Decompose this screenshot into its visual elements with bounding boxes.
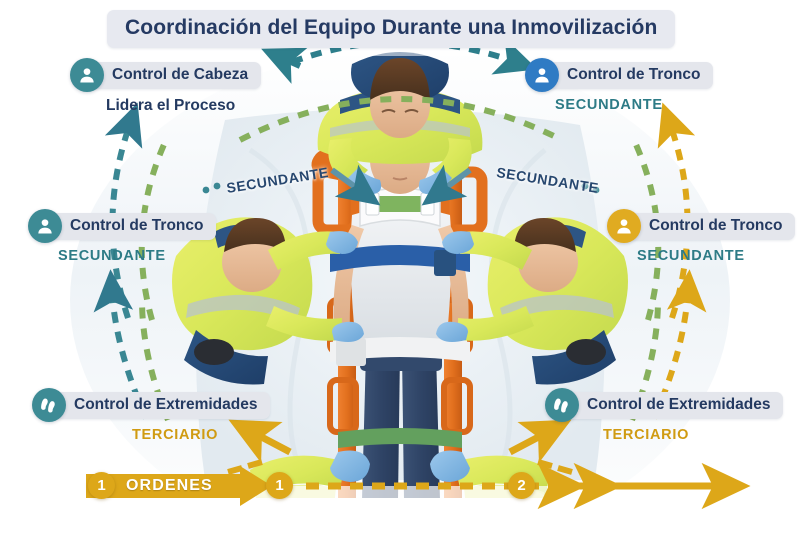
role-head-control[interactable]: Control de Cabeza Lidera el Proceso: [70, 58, 261, 115]
sequence-label-ordenes: ORDENES: [126, 477, 213, 495]
person-icon: [607, 209, 641, 243]
role-trunk-right[interactable]: Control de Tronco SECUNDANTE: [607, 209, 795, 264]
sequence-badge-3[interactable]: 2: [508, 472, 535, 499]
person-icon: [70, 58, 104, 92]
role-trunk-right-sublabel: SECUNDANTE: [607, 248, 795, 264]
role-trunk-top-right[interactable]: Control de Tronco SECUNDANTE: [525, 58, 713, 113]
role-trunk-top-right-sublabel: SECUNDANTE: [525, 97, 713, 113]
role-trunk-top-right-label: Control de Tronco: [543, 62, 713, 89]
role-limb-right-label: Control de Extremidades: [563, 392, 783, 419]
role-head-control-sublabel: Lidera el Proceso: [70, 97, 261, 115]
person-icon: [28, 209, 62, 243]
person-icon: [525, 58, 559, 92]
infographic-canvas: Coordinación del Equipo Durante una Inmo…: [0, 0, 800, 533]
role-limb-right-row: Control de Extremidades: [545, 388, 783, 422]
role-limb-right[interactable]: Control de Extremidades TERCIARIO: [545, 388, 783, 443]
role-limb-left-row: Control de Extremidades: [32, 388, 270, 422]
role-trunk-right-row: Control de Tronco: [607, 209, 795, 243]
role-limb-left-sublabel: TERCIARIO: [32, 427, 270, 443]
role-trunk-right-label: Control de Tronco: [625, 213, 795, 240]
role-trunk-top-right-row: Control de Tronco: [525, 58, 713, 92]
legs-icon: [32, 388, 66, 422]
role-trunk-left-label: Control de Tronco: [46, 213, 216, 240]
role-trunk-left-row: Control de Tronco: [28, 209, 216, 243]
role-head-control-row: Control de Cabeza: [70, 58, 261, 92]
role-limb-left[interactable]: Control de Extremidades TERCIARIO: [32, 388, 270, 443]
role-limb-left-label: Control de Extremidades: [50, 392, 270, 419]
sequence-badge-2[interactable]: 1: [266, 472, 293, 499]
role-head-control-label: Control de Cabeza: [88, 62, 261, 89]
page-title: Coordinación del Equipo Durante una Inmo…: [107, 10, 675, 48]
sequence-badge-1[interactable]: 1: [88, 472, 115, 499]
role-limb-right-sublabel: TERCIARIO: [545, 427, 783, 443]
role-trunk-left-sublabel: SECUNDANTE: [28, 248, 216, 264]
role-trunk-left[interactable]: Control de Tronco SECUNDANTE: [28, 209, 216, 264]
legs-icon: [545, 388, 579, 422]
